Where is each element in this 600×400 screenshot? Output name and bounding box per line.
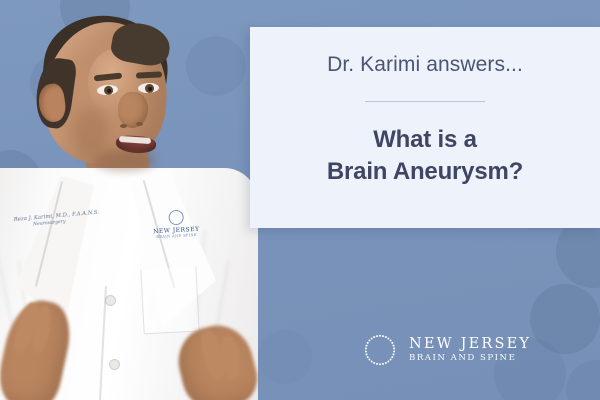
decorative-circle xyxy=(258,330,312,384)
coat-button xyxy=(110,360,119,369)
headline: What is a Brain Aneurysm? xyxy=(327,124,523,187)
coat-button xyxy=(106,296,115,305)
nostril xyxy=(120,124,127,128)
coat-pocket xyxy=(140,267,199,335)
brand-logo-text: NEW JERSEY BRAIN AND SPINE xyxy=(409,336,531,363)
brand-logo: NEW JERSEY BRAIN AND SPINE xyxy=(363,333,531,367)
pupil xyxy=(106,88,110,92)
title-card: Dr. Karimi answers... What is a Brain An… xyxy=(250,27,600,228)
pupil xyxy=(147,86,151,90)
eyebrow-text: Dr. Karimi answers... xyxy=(327,53,523,77)
video-thumbnail: Reza J. Karimi, M.D., F.A.A.N.S. Neurosu… xyxy=(0,0,600,400)
presenter-photo: Reza J. Karimi, M.D., F.A.A.N.S. Neurosu… xyxy=(0,0,265,400)
coat-logo-ring-icon xyxy=(168,210,184,226)
iris xyxy=(145,84,154,93)
title-card-content: Dr. Karimi answers... What is a Brain An… xyxy=(250,27,600,228)
headline-line-2: Brain Aneurysm? xyxy=(327,156,523,188)
brand-logo-bottom: BRAIN AND SPINE xyxy=(409,353,531,363)
chin-shadow xyxy=(94,150,156,172)
dotted-ring-icon xyxy=(363,333,397,367)
brand-logo-top: NEW JERSEY xyxy=(409,336,531,353)
headline-line-1: What is a xyxy=(327,124,523,156)
coat-logo: NEW JERSEY BRAIN AND SPINE xyxy=(149,209,202,240)
iris xyxy=(104,86,114,96)
cheek-shadow xyxy=(74,108,108,154)
divider xyxy=(365,101,485,102)
nostril xyxy=(136,122,143,126)
